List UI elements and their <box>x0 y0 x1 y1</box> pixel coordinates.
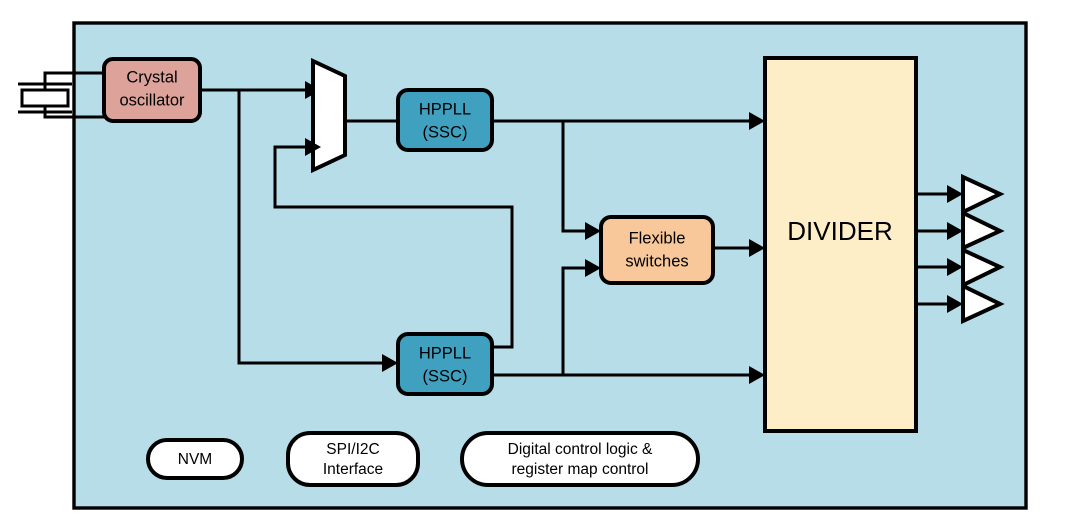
flexible-switches-label-line2: switches <box>625 252 688 270</box>
divider-label: DIVIDER <box>787 216 892 246</box>
clock-generator-diagram: Crystal oscillator HPPLL <box>0 0 1067 530</box>
crystal-oscillator-block[interactable]: Crystal oscillator <box>104 59 200 121</box>
nvm-block[interactable]: NVM <box>148 440 242 478</box>
digital-control-label-line1: Digital control logic & <box>508 441 653 458</box>
flexible-switches-label-line1: Flexible <box>629 229 686 247</box>
spi-i2c-interface-label-line2: Interface <box>323 461 383 478</box>
flexible-switches-block[interactable]: Flexible switches <box>601 217 713 283</box>
hppll-top-label-line1: HPPLL <box>419 100 471 118</box>
digital-control-label-line2: register map control <box>512 461 649 478</box>
digital-control-block[interactable]: Digital control logic & register map con… <box>462 433 698 485</box>
crystal-oscillator-label-line1: Crystal <box>126 68 177 86</box>
hppll-top-block[interactable]: HPPLL (SSC) <box>398 90 492 150</box>
hppll-bottom-block[interactable]: HPPLL (SSC) <box>398 334 492 394</box>
hppll-top-label-line2: (SSC) <box>423 123 468 141</box>
spi-i2c-interface-label-line1: SPI/I2C <box>326 441 379 458</box>
input-mux-block[interactable] <box>313 61 345 170</box>
block-diagram-canvas: Crystal oscillator HPPLL <box>0 0 1067 530</box>
nvm-label: NVM <box>178 451 212 468</box>
divider-block[interactable]: DIVIDER <box>765 58 916 431</box>
hppll-bottom-label-line1: HPPLL <box>419 344 471 362</box>
spi-i2c-interface-block[interactable]: SPI/I2C Interface <box>288 433 418 485</box>
crystal-oscillator-label-line2: oscillator <box>119 91 185 109</box>
hppll-bottom-label-line2: (SSC) <box>423 367 468 385</box>
